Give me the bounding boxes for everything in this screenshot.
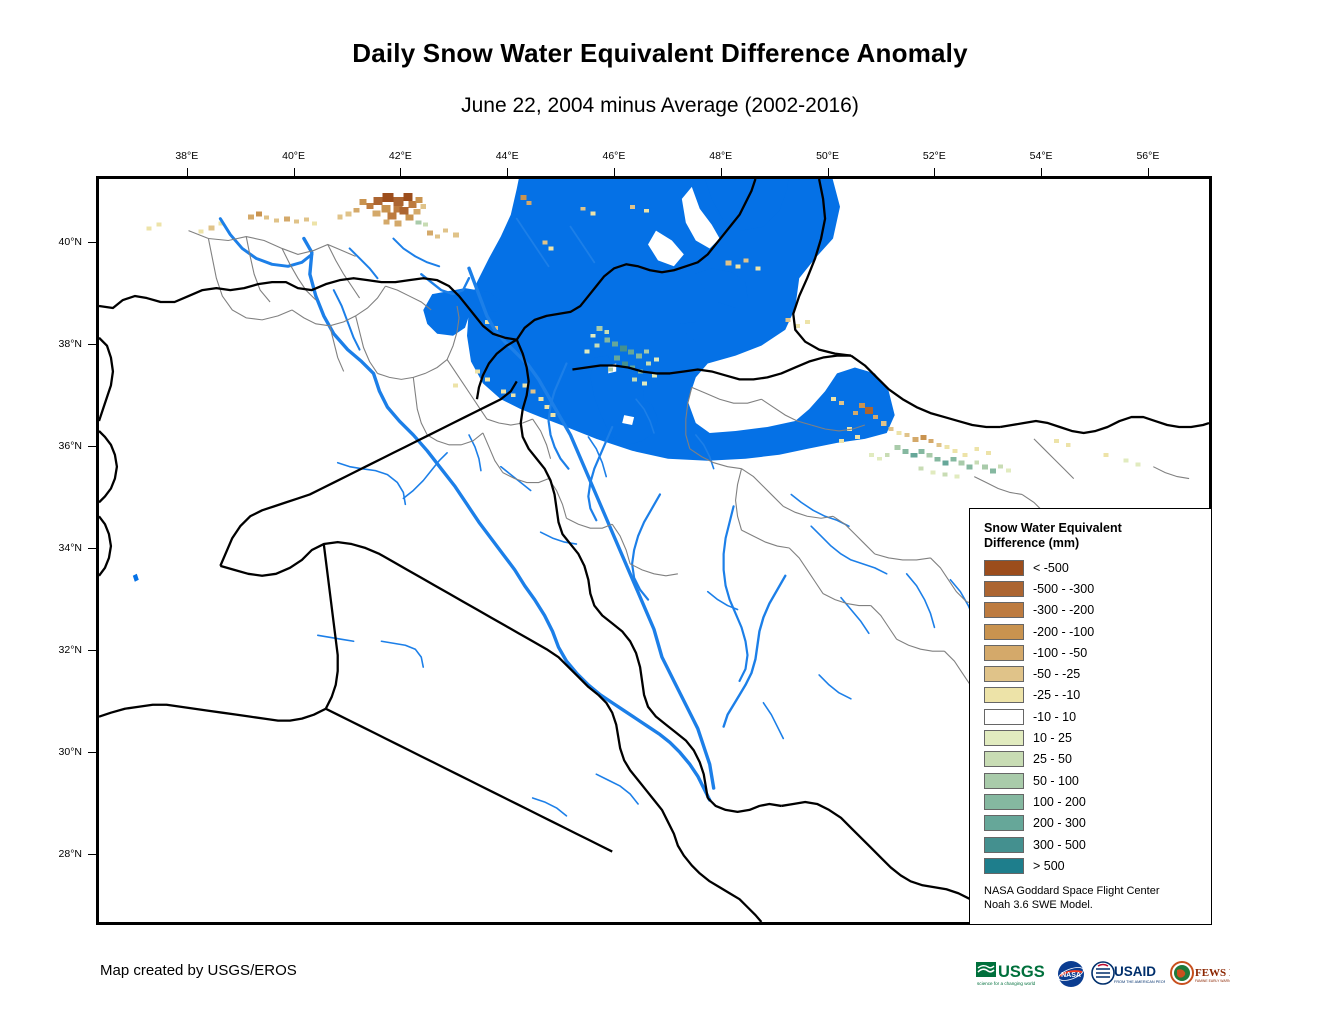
legend-row: -50 - -25 — [984, 663, 1201, 684]
legend-row: -100 - -50 — [984, 642, 1201, 663]
legend-title-line1: Snow Water Equivalent — [984, 521, 1201, 536]
lon-label: 48°E — [691, 150, 751, 162]
lon-tick — [614, 168, 615, 176]
legend-row: -300 - -200 — [984, 600, 1201, 621]
lon-tick — [187, 168, 188, 176]
legend-row: 50 - 100 — [984, 770, 1201, 791]
small-lake — [133, 574, 139, 582]
legend-label: < -500 — [1033, 561, 1069, 575]
lat-label: 30°N — [22, 746, 82, 758]
legend-label: 200 - 300 — [1033, 816, 1086, 830]
legend-row: 300 - 500 — [984, 834, 1201, 855]
legend-swatch — [984, 602, 1024, 618]
legend-swatch — [984, 624, 1024, 640]
map-legend: Snow Water Equivalent Difference (mm) < … — [969, 508, 1212, 925]
lat-tick — [88, 650, 96, 651]
usgs-logo: USGS science for a changing world — [975, 957, 1051, 991]
page-title: Daily Snow Water Equivalent Difference A… — [0, 38, 1320, 69]
legend-label: -100 - -50 — [1033, 646, 1087, 660]
lon-label: 54°E — [1011, 150, 1071, 162]
lat-label: 34°N — [22, 542, 82, 554]
lat-tick — [88, 752, 96, 753]
legend-row: 10 - 25 — [984, 727, 1201, 748]
legend-label: 100 - 200 — [1033, 795, 1086, 809]
legend-label: -200 - -100 — [1033, 625, 1094, 639]
lon-label: 46°E — [584, 150, 644, 162]
lat-label: 38°N — [22, 338, 82, 350]
legend-row: -500 - -300 — [984, 578, 1201, 599]
svg-text:FEWS NET: FEWS NET — [1195, 967, 1230, 979]
lat-label: 40°N — [22, 236, 82, 248]
legend-title-line2: Difference (mm) — [984, 536, 1201, 551]
legend-swatch — [984, 687, 1024, 703]
lon-label: 44°E — [477, 150, 537, 162]
lat-tick — [88, 242, 96, 243]
svg-text:USGS: USGS — [998, 963, 1045, 981]
legend-class-list: < -500-500 - -300-300 - -200-200 - -100-… — [984, 557, 1201, 876]
lat-label: 36°N — [22, 440, 82, 452]
legend-swatch — [984, 730, 1024, 746]
lon-tick — [1041, 168, 1042, 176]
lat-tick — [88, 548, 96, 549]
legend-label: -10 - 10 — [1033, 710, 1076, 724]
legend-swatch — [984, 581, 1024, 597]
legend-label: 10 - 25 — [1033, 731, 1072, 745]
lon-label: 52°E — [904, 150, 964, 162]
legend-label: > 500 — [1033, 859, 1065, 873]
legend-label: 50 - 100 — [1033, 774, 1079, 788]
legend-row: -25 - -10 — [984, 685, 1201, 706]
lon-tick — [721, 168, 722, 176]
legend-swatch — [984, 794, 1024, 810]
legend-label: -300 - -200 — [1033, 603, 1094, 617]
legend-source-line1: NASA Goddard Space Flight Center — [984, 885, 1201, 899]
lon-label: 42°E — [370, 150, 430, 162]
lon-label: 50°E — [798, 150, 858, 162]
lat-tick — [88, 854, 96, 855]
svg-text:FAMINE EARLY WARNING SYSTEMS N: FAMINE EARLY WARNING SYSTEMS NETWORK — [1195, 979, 1230, 983]
svg-text:science for a changing world: science for a changing world — [977, 981, 1036, 986]
agency-logos: USGS science for a changing world NASA U… — [975, 955, 1207, 993]
nasa-logo: NASA — [1056, 957, 1086, 991]
page-subtitle: June 22, 2004 minus Average (2002-2016) — [0, 94, 1320, 118]
legend-row: > 500 — [984, 855, 1201, 876]
lon-label: 56°E — [1118, 150, 1178, 162]
caspian-sea — [467, 179, 895, 461]
legend-swatch — [984, 837, 1024, 853]
lat-label: 32°N — [22, 644, 82, 656]
lat-label: 28°N — [22, 848, 82, 860]
lon-tick — [828, 168, 829, 176]
legend-row: 100 - 200 — [984, 791, 1201, 812]
lon-label: 38°E — [157, 150, 217, 162]
lat-tick — [88, 446, 96, 447]
fewsnet-logo: FEWS NET FAMINE EARLY WARNING SYSTEMS NE… — [1170, 957, 1230, 991]
legend-swatch — [984, 773, 1024, 789]
legend-label: -25 - -10 — [1033, 688, 1080, 702]
legend-swatch — [984, 560, 1024, 576]
map-credit: Map created by USGS/EROS — [100, 962, 297, 979]
svg-text:FROM THE AMERICAN PEOPLE: FROM THE AMERICAN PEOPLE — [1114, 980, 1165, 984]
legend-swatch — [984, 858, 1024, 874]
legend-row: -200 - -100 — [984, 621, 1201, 642]
legend-row: 25 - 50 — [984, 749, 1201, 770]
legend-row: < -500 — [984, 557, 1201, 578]
legend-swatch — [984, 751, 1024, 767]
legend-row: 200 - 300 — [984, 813, 1201, 834]
legend-swatch — [984, 666, 1024, 682]
legend-swatch — [984, 709, 1024, 725]
legend-source: NASA Goddard Space Flight Center Noah 3.… — [984, 885, 1201, 912]
svg-text:NASA: NASA — [1061, 972, 1081, 979]
legend-label: -50 - -25 — [1033, 667, 1080, 681]
lon-tick — [1148, 168, 1149, 176]
lon-tick — [507, 168, 508, 176]
legend-label: 300 - 500 — [1033, 838, 1086, 852]
legend-label: 25 - 50 — [1033, 752, 1072, 766]
lon-tick — [294, 168, 295, 176]
legend-source-line2: Noah 3.6 SWE Model. — [984, 899, 1201, 913]
legend-title: Snow Water Equivalent Difference (mm) — [984, 521, 1201, 551]
legend-label: -500 - -300 — [1033, 582, 1094, 596]
lon-label: 40°E — [264, 150, 324, 162]
lon-tick — [400, 168, 401, 176]
usaid-logo: USAID FROM THE AMERICAN PEOPLE — [1091, 957, 1165, 991]
legend-swatch — [984, 815, 1024, 831]
legend-row: -10 - 10 — [984, 706, 1201, 727]
lon-tick — [934, 168, 935, 176]
legend-swatch — [984, 645, 1024, 661]
svg-text:USAID: USAID — [1114, 964, 1156, 979]
lat-tick — [88, 344, 96, 345]
